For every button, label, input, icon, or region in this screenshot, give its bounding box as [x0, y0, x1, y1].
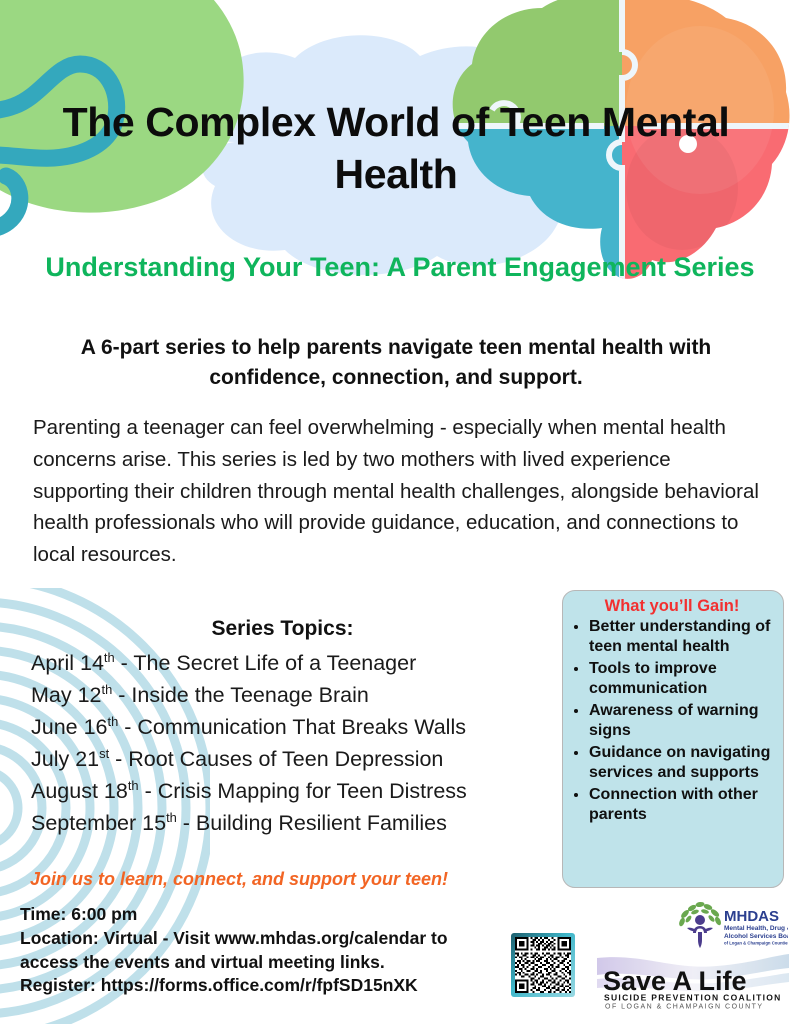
- topic-date: June 16: [31, 715, 108, 739]
- save-a-life-name: Save A Life: [603, 966, 747, 996]
- save-a-life-line2: OF LOGAN & CHAMPAIGN COUNTY: [605, 1004, 764, 1011]
- series-topic-row: April 14th - The Secret Life of a Teenag…: [31, 648, 571, 680]
- gain-list-item: Tools to improve communication: [589, 659, 777, 700]
- topic-date-ordinal: th: [166, 810, 177, 825]
- qr-code[interactable]: [511, 933, 575, 997]
- flyer-page: The Complex World of Teen Mental Health …: [0, 0, 791, 1024]
- topic-name: - Building Resilient Families: [177, 811, 447, 835]
- qr-code-pattern: [515, 937, 571, 993]
- topic-name: - Crisis Mapping for Teen Distress: [139, 779, 467, 803]
- topic-date: May 12: [31, 683, 102, 707]
- event-detail-line: Location: Virtual - Visit www.mhdas.org/…: [20, 927, 500, 975]
- topic-date: September 15: [31, 811, 166, 835]
- event-details: Time: 6:00 pmLocation: Virtual - Visit w…: [20, 903, 500, 998]
- save-a-life-line1: SUICIDE PREVENTION COALITION: [604, 993, 782, 1003]
- mhdas-line3: of Logan & Champaign Counties: [724, 941, 788, 946]
- event-detail-line: Register: https://forms.office.com/r/fpf…: [20, 974, 500, 998]
- save-a-life-logo: Save A Life SUICIDE PREVENTION COALITION…: [597, 953, 789, 1011]
- topic-date-ordinal: st: [99, 746, 109, 761]
- gain-box-list: Better understanding of teen mental heal…: [567, 617, 777, 826]
- topic-date-ordinal: th: [128, 778, 139, 793]
- topic-name: - Inside the Teenage Brain: [112, 683, 369, 707]
- series-topics-list: April 14th - The Secret Life of a Teenag…: [31, 648, 571, 840]
- topic-name: - Communication That Breaks Walls: [118, 715, 466, 739]
- series-topic-row: September 15th - Building Resilient Fami…: [31, 808, 571, 840]
- call-to-action-text: Join us to learn, connect, and support y…: [30, 869, 448, 890]
- intro-paragraph: Parenting a teenager can feel overwhelmi…: [33, 412, 763, 571]
- mhdas-logo: MHDAS Mental Health, Drug & Alcohol Serv…: [672, 900, 788, 952]
- gain-list-item: Connection with other parents: [589, 785, 777, 826]
- series-topic-row: August 18th - Crisis Mapping for Teen Di…: [31, 776, 571, 808]
- gain-box-title: What you’ll Gain!: [567, 597, 777, 616]
- series-topic-row: May 12th - Inside the Teenage Brain: [31, 680, 571, 712]
- page-subtitle: Understanding Your Teen: A Parent Engage…: [30, 250, 770, 285]
- topic-date-ordinal: th: [104, 650, 115, 665]
- topic-name: - The Secret Life of a Teenager: [115, 651, 417, 675]
- topic-date-ordinal: th: [102, 682, 113, 697]
- mhdas-acronym: MHDAS: [724, 908, 779, 925]
- gain-list-item: Guidance on navigating services and supp…: [589, 743, 777, 784]
- event-detail-line: Time: 6:00 pm: [20, 903, 500, 927]
- topic-name: - Root Causes of Teen Depression: [109, 747, 443, 771]
- what-youll-gain-box: What you’ll Gain! Better understanding o…: [562, 590, 784, 888]
- mhdas-line1: Mental Health, Drug &: [724, 925, 788, 932]
- series-topic-row: July 21st - Root Causes of Teen Depressi…: [31, 744, 571, 776]
- page-title: The Complex World of Teen Mental Health: [60, 96, 732, 201]
- mhdas-tree-icon: [678, 901, 722, 948]
- series-topics-heading: Series Topics:: [30, 617, 535, 641]
- gain-list-item: Better understanding of teen mental heal…: [589, 617, 777, 658]
- page-tagline: A 6-part series to help parents navigate…: [60, 333, 732, 393]
- series-topic-row: June 16th - Communication That Breaks Wa…: [31, 712, 571, 744]
- topic-date: April 14: [31, 651, 104, 675]
- mhdas-line2: Alcohol Services Board: [724, 933, 788, 940]
- topic-date-ordinal: th: [108, 714, 119, 729]
- topic-date: July 21: [31, 747, 99, 771]
- gain-list-item: Awareness of warning signs: [589, 701, 777, 742]
- topic-date: August 18: [31, 779, 128, 803]
